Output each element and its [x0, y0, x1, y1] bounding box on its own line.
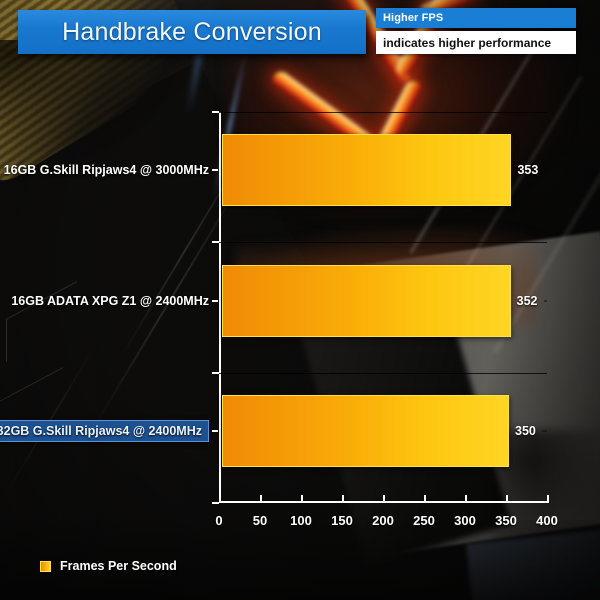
x-tick-label: 400: [536, 513, 558, 528]
legend-swatch-icon: [40, 561, 51, 572]
category-tick: [212, 169, 218, 171]
bar-value-label: 352: [517, 294, 538, 308]
x-tick: [342, 495, 344, 503]
bar: [222, 395, 509, 467]
x-tick-label: 150: [331, 513, 353, 528]
bar-value-label: 350: [515, 424, 536, 438]
x-tick: [424, 495, 426, 503]
x-tick-label: 200: [372, 513, 394, 528]
plot-area: 353352350 050100150200250300350400: [219, 112, 547, 503]
x-tick: [547, 495, 549, 503]
bar: [222, 134, 511, 206]
performance-note-heading: Higher FPS: [383, 12, 443, 24]
x-tick: [383, 495, 385, 503]
gridline: [219, 242, 547, 243]
category-label: 16GB ADATA XPG Z1 @ 2400MHz: [11, 294, 209, 308]
value-leader-line: [544, 170, 547, 171]
performance-note-body: indicates higher performance: [376, 31, 576, 54]
y-tick: [212, 241, 219, 243]
x-tick-label: 250: [413, 513, 435, 528]
x-tick: [465, 495, 467, 503]
value-leader-line: [544, 301, 547, 302]
category-tick: [212, 300, 218, 302]
performance-note-header: Higher FPS: [376, 8, 576, 28]
x-tick-label: 300: [454, 513, 476, 528]
category-label: 16GB G.Skill Ripjaws4 @ 3000MHz: [4, 163, 209, 177]
x-tick-label: 350: [495, 513, 517, 528]
category-tick: [212, 430, 218, 432]
chart-title-banner: Handbrake Conversion: [18, 10, 366, 54]
x-tick: [506, 495, 508, 503]
gridline-top: [219, 112, 547, 113]
bar: [222, 265, 511, 337]
chart-screenshot: Handbrake Conversion Higher FPS indicate…: [0, 0, 600, 600]
x-tick: [260, 495, 262, 503]
bar-value-label: 353: [517, 163, 538, 177]
x-tick: [301, 495, 303, 503]
x-tick: [219, 495, 221, 503]
chart-legend: Frames Per Second: [40, 559, 177, 573]
performance-note: Higher FPS indicates higher performance: [376, 8, 576, 54]
y-axis: [219, 112, 221, 503]
performance-note-text: indicates higher performance: [383, 36, 551, 50]
y-tick: [212, 502, 219, 504]
page-title: Handbrake Conversion: [62, 18, 322, 47]
category-label: 32GB G.Skill Ripjaws4 @ 2400MHz: [0, 420, 209, 442]
value-leader-line: [542, 431, 547, 432]
x-tick-label: 0: [215, 513, 222, 528]
gridline: [219, 373, 547, 374]
legend-label: Frames Per Second: [60, 559, 177, 573]
y-tick: [212, 111, 219, 113]
x-tick-label: 50: [253, 513, 267, 528]
x-tick-label: 100: [290, 513, 312, 528]
y-tick: [212, 372, 219, 374]
